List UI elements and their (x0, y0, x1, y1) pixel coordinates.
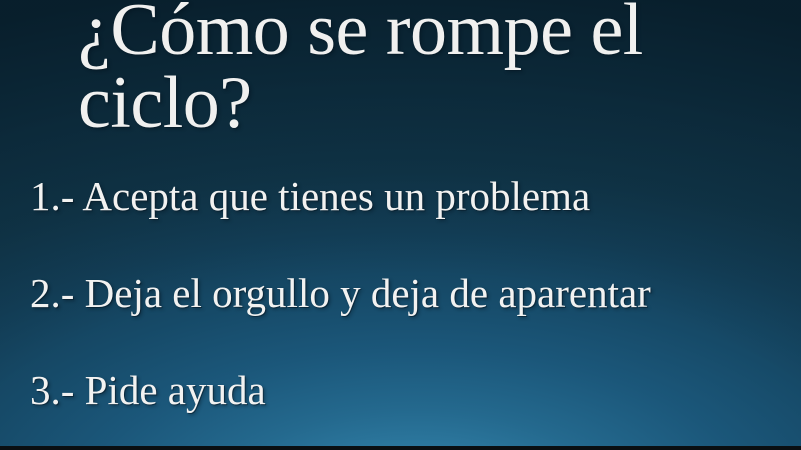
slide-title-line-1: ¿Cómo se rompe el (78, 0, 788, 67)
presentation-slide: ¿Cómo se rompe el ciclo? 1.- Acepta que … (0, 0, 801, 450)
slide-content: ¿Cómo se rompe el ciclo? 1.- Acepta que … (0, 0, 801, 450)
slide-title: ¿Cómo se rompe el ciclo? (78, 0, 788, 139)
bullet-item-1: 1.- Acepta que tienes un problema (30, 176, 790, 217)
slide-bullet-list: 1.- Acepta que tienes un problema 2.- De… (30, 176, 790, 411)
slide-title-line-2: ciclo? (78, 67, 788, 140)
bullet-item-3: 3.- Pide ayuda (30, 370, 790, 411)
slide-bottom-bar (0, 446, 801, 450)
bullet-item-2: 2.- Deja el orgullo y deja de aparentar (30, 273, 790, 314)
